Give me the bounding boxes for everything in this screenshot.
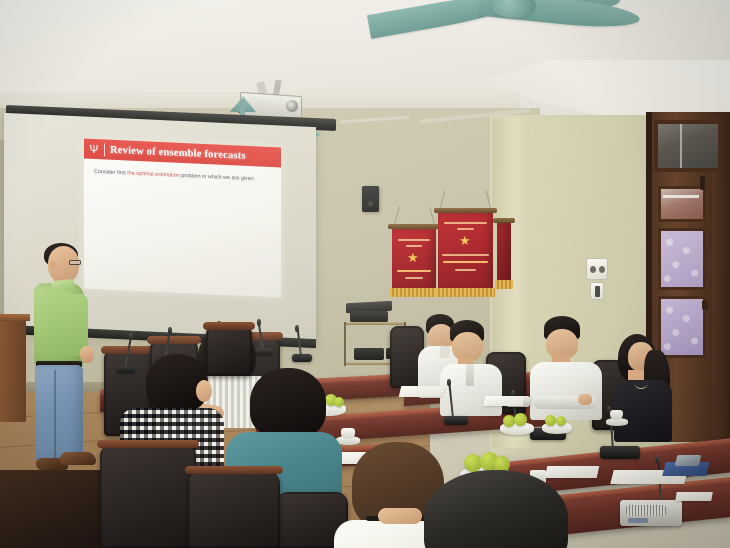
presenter-ear — [50, 261, 56, 270]
presenter — [30, 246, 100, 478]
projected-slide: Ψ Review of ensemble forecasts Consider … — [84, 139, 281, 298]
conference-microphone[interactable] — [292, 354, 312, 362]
conference-microphone[interactable] — [255, 348, 273, 355]
paper-documents[interactable] — [675, 492, 713, 501]
chair-foreground-left[interactable] — [100, 444, 196, 548]
door-upper-glass — [658, 186, 706, 222]
light-switch-plate[interactable] — [586, 258, 608, 280]
paper-documents[interactable] — [399, 386, 446, 397]
mic-head-icon — [295, 325, 299, 332]
door-glass-panel-upper — [658, 228, 706, 290]
door-latch-icon[interactable] — [700, 176, 705, 190]
mic-head-icon — [129, 333, 133, 340]
fruit-plate — [500, 422, 534, 435]
iu-trident-logo-icon: Ψ — [84, 139, 104, 160]
attendee-foreground-dark-hair — [424, 470, 568, 548]
door-handle-icon[interactable] — [702, 300, 708, 310]
wall-speaker — [362, 186, 379, 212]
podium-top — [0, 314, 30, 321]
conference-microphone[interactable] — [444, 416, 468, 425]
jeans-seam — [54, 370, 56, 458]
presenter-jeans — [35, 365, 83, 461]
chair-foreground-left-2[interactable] — [188, 470, 280, 548]
mic-head-icon — [447, 379, 451, 386]
glasses-icon — [69, 260, 81, 265]
conference-microphone[interactable] — [600, 446, 640, 459]
mic-head-icon — [257, 319, 261, 326]
attendee-arms-crossed — [530, 316, 606, 418]
ceiling-fan-large — [360, 0, 650, 56]
wall-outlet — [590, 282, 604, 300]
paper-documents[interactable] — [483, 396, 525, 406]
presenter-collar — [51, 279, 74, 292]
mic-head-icon — [168, 327, 172, 334]
teacup-and-saucer[interactable] — [341, 428, 355, 439]
slide-title: Review of ensemble forecasts — [110, 144, 246, 161]
slide-body-text: Consider first the optimal estimation pr… — [94, 168, 274, 185]
presenter-hand — [80, 346, 94, 363]
conference-speaker-unit[interactable] — [620, 500, 682, 526]
mic-head-icon — [655, 456, 659, 463]
slide-text-rest: problem in which we are given — [180, 173, 254, 182]
slide-text-highlight: the optimal estimation — [127, 170, 179, 178]
fruit-plate — [542, 422, 572, 434]
phone-icon[interactable] — [675, 455, 702, 466]
podium — [0, 316, 26, 422]
presenter-shoe — [60, 452, 96, 465]
banner-star-icon: ★ — [407, 251, 419, 264]
logo-divider — [104, 143, 105, 156]
attendee-woman-black-top — [612, 334, 674, 442]
conference-room-photo: Ψ Review of ensemble forecasts Consider … — [0, 0, 730, 548]
slide-text-lead: Consider first — [94, 169, 127, 177]
door-transom-glass — [654, 120, 722, 172]
banner-star-icon: ★ — [459, 234, 471, 247]
